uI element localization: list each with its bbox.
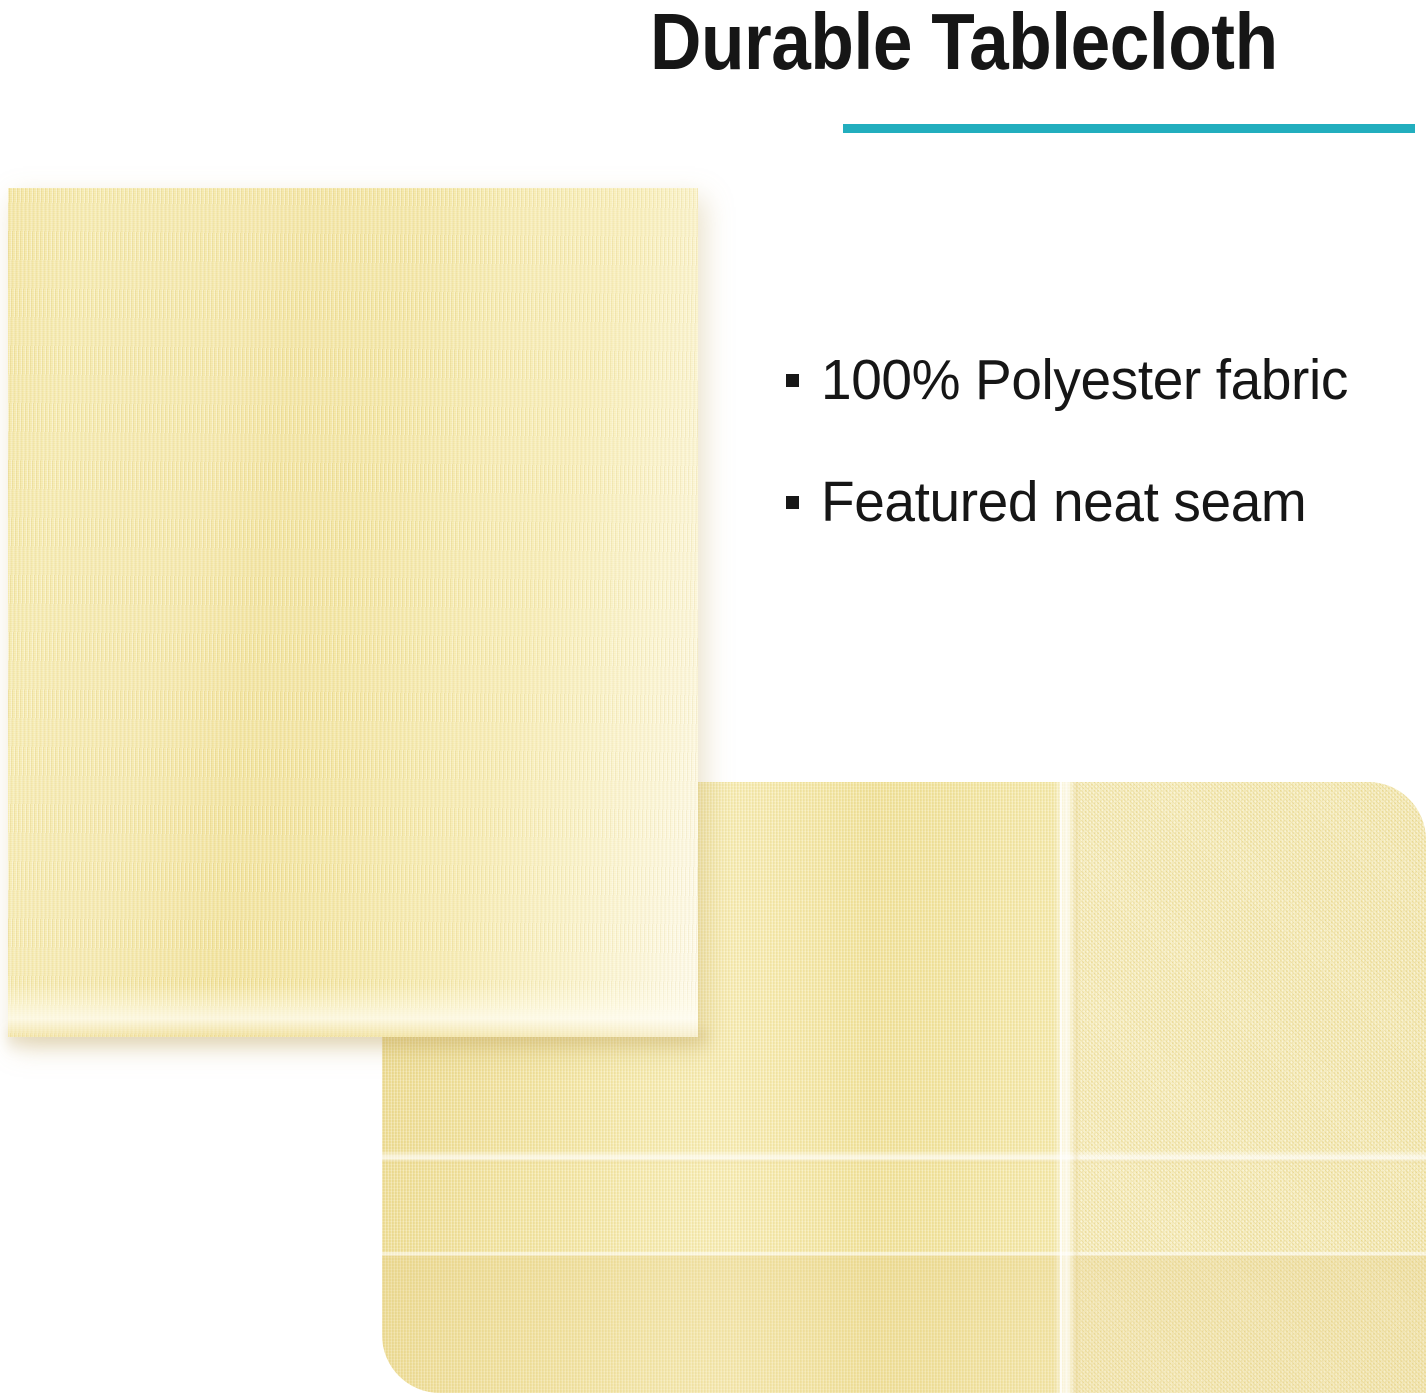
fabric-sheen-highlight (8, 188, 698, 1037)
fabric-weave-texture (382, 782, 1426, 1393)
fabric-weave-texture-right (1072, 782, 1426, 1393)
fabric-fold-edge (8, 983, 698, 1037)
fabric-panel-folded-swatch (8, 188, 698, 1037)
square-bullet-icon (786, 374, 799, 387)
feature-list: 100% Polyester fabric Featured neat seam (786, 348, 1406, 592)
fabric-drop-shadow (8, 1030, 708, 1054)
list-item: 100% Polyester fabric (786, 348, 1406, 412)
product-image-group (0, 0, 1426, 1393)
square-bullet-icon (786, 496, 799, 509)
feature-label: Featured neat seam (821, 470, 1306, 534)
fabric-rib-texture (8, 188, 698, 1037)
page-title: Durable Tablecloth (650, 0, 1341, 90)
infographic-canvas: Durable Tablecloth 100% Polyester fabric… (0, 0, 1426, 1393)
title-accent-rule (843, 124, 1415, 133)
fabric-panel-hemmed-corner (382, 782, 1426, 1393)
hem-band (382, 1255, 1426, 1393)
feature-label: 100% Polyester fabric (821, 348, 1348, 412)
hem-seam-vertical (1054, 782, 1080, 1393)
list-item: Featured neat seam (786, 470, 1406, 534)
hem-stitch-line (1060, 782, 1062, 1393)
hem-seam-horizontal (382, 1150, 1426, 1164)
hem-fold-edge (382, 1252, 1426, 1256)
